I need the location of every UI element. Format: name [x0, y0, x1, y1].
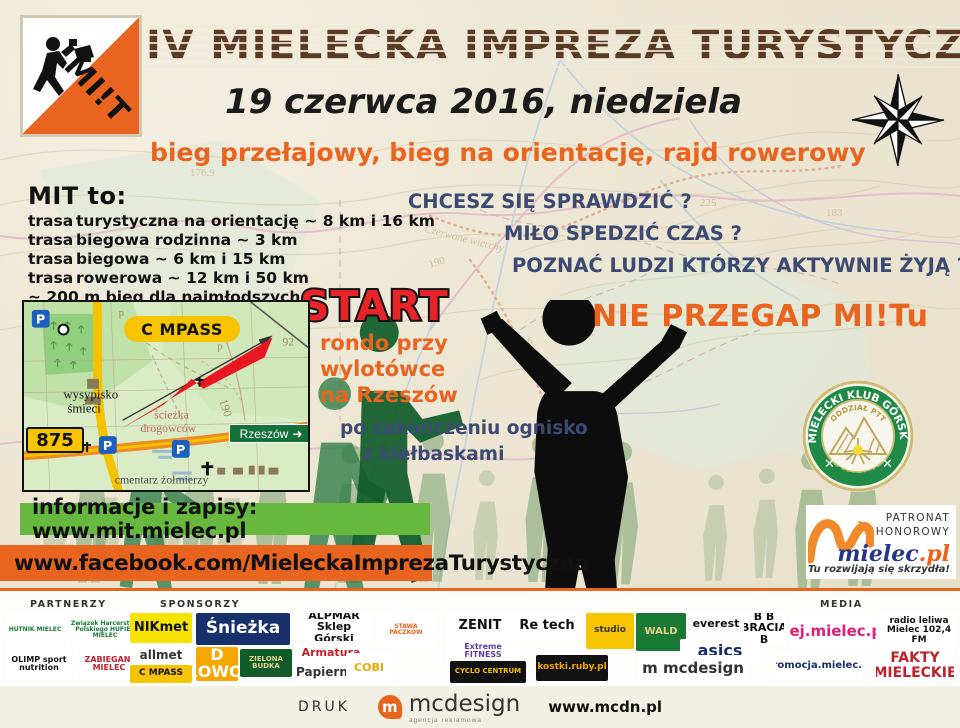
- svg-text:drogowców: drogowców: [140, 421, 196, 435]
- sponsor-logo-everest[interactable]: everest: [690, 613, 742, 635]
- svg-text:MI!T: MI!T: [57, 49, 137, 131]
- sponsor-logo-pzu-zielony[interactable]: HUTNIK MIELEC: [6, 613, 64, 647]
- sponsor-logo-allmet[interactable]: allmet: [130, 645, 192, 665]
- svg-text:p: p: [217, 340, 222, 352]
- svg-text:ścieżka: ścieżka: [154, 407, 190, 421]
- sponsor-logo-compass[interactable]: C MPASS: [130, 665, 192, 683]
- svg-text:✕: ✕: [824, 457, 835, 472]
- arrow-right-icon: ➜: [292, 427, 302, 441]
- route-row: trasabiegowa rodzinna ~ 3 km: [28, 231, 408, 250]
- sponsor-logo-radio-leliwa[interactable]: radio leliwa Mielec 102,4 FM: [882, 613, 956, 649]
- sponsor-logo-zenit[interactable]: ZENIT: [446, 613, 514, 639]
- sponsor-logo-alpmar[interactable]: ALPMAR Sklep Górski: [296, 613, 372, 641]
- title-text: IV MIELECKA IMPREZA TURYSTYCZNA: [146, 20, 960, 72]
- poster: 183 198.6 190 187.8 225 176.9 Czerwone w…: [0, 0, 960, 728]
- sponsor-logo-pp-studio[interactable]: studio: [586, 613, 634, 649]
- compass-logo-text: C MPASS: [141, 320, 223, 339]
- mcdn-url: www.mcdn.pl: [548, 698, 662, 716]
- svg-text:p: p: [119, 307, 124, 319]
- mcdesign-logo: m mcdesign agencja reklamowa: [378, 691, 520, 724]
- page-title: IV MIELECKA IMPREZA TURYSTYCZNA: [146, 20, 940, 72]
- start-line-3: na Rzeszów: [320, 382, 560, 408]
- route-row: trasabiegowa ~ 6 km i 15 km: [28, 250, 408, 269]
- svg-text:wysypisko: wysypisko: [63, 388, 118, 402]
- mielec-slogan: Tu rozwijają się skrzydła!: [808, 564, 950, 575]
- footer-category-media: MEDIA: [820, 599, 863, 610]
- mit-logo: MI!T: [20, 15, 142, 137]
- after-event-block: po zakończeniu ognisko z kiełbaskami: [340, 416, 620, 468]
- sponsor-logo-cyclo-centrum[interactable]: CYCLO CENTRUM: [450, 661, 526, 683]
- start-location-block: rondo przy wylotówce na Rzeszów: [320, 330, 560, 408]
- start-line-1: rondo przy: [320, 330, 560, 356]
- direction-sign-rzeszow: Rzeszów ➜: [229, 424, 310, 443]
- route-value: rowerowa ~ 12 km i 50 km: [76, 269, 309, 287]
- event-date: 19 czerwca 2016, niedziela: [225, 82, 785, 122]
- route-key: trasa: [28, 269, 76, 288]
- question-1: CHCESZ SIĘ SPRAWDZIĆ ?: [408, 186, 954, 218]
- event-tagline: bieg przełajowy, bieg na orientację, raj…: [150, 136, 870, 170]
- sponsor-logo-nikmet[interactable]: NIKmet: [130, 613, 192, 643]
- print-credit-bar: DRUK m mcdesign agencja reklamowa www.mc…: [0, 686, 960, 728]
- sponsor-logo-rectech[interactable]: Re tech: [514, 613, 580, 639]
- patronage-label: PATRONAT HONOROWY: [876, 511, 950, 539]
- website-text: informacje i zapisy: www.mit.mielec.pl: [32, 495, 430, 543]
- patronage-block: PATRONAT HONOROWY mielec.pl Tu rozwijają…: [806, 505, 956, 579]
- svg-text:P: P: [36, 313, 45, 328]
- route-key: trasa: [28, 212, 76, 231]
- route-value: biegowa ~ 6 km i 15 km: [76, 250, 285, 268]
- footer-category-sponsorzy: SPONSORZY: [160, 599, 240, 610]
- patronage-line-2: HONOROWY: [876, 525, 950, 539]
- mcdesign-subtitle: agencja reklamowa: [409, 717, 520, 724]
- mielecki-klub-gorski-badge: MIELECKI KLUB GÓRSKI CARPATIA ODDZIAŁ PT…: [800, 378, 916, 494]
- road-number: 875: [36, 430, 74, 451]
- sponsor-logo-extreme-fitness[interactable]: Extreme FITNESS: [446, 639, 520, 663]
- sponsor-logo-cobi[interactable]: COBI: [346, 653, 392, 683]
- sponsor-logo-hej-mielec[interactable]: hej.mielec.pl: [790, 615, 876, 649]
- sponsor-logo-zielona-budka[interactable]: ZIELONA BUDKA: [240, 649, 292, 677]
- sponsor-logo-kostki-ruby[interactable]: kostki.ruby.pl: [536, 655, 608, 681]
- question-3: POZNAĆ LUDZI KTÓRZY AKTYWNIE ŻYJĄ ?: [408, 250, 954, 282]
- mcdesign-bubble-icon: m: [378, 695, 402, 719]
- sponsor-logo-promocja-mielec[interactable]: promocja.mielec.pl: [776, 653, 862, 679]
- svg-text:✕: ✕: [882, 457, 893, 472]
- route-key: trasa: [28, 250, 76, 269]
- druk-label: DRUK: [298, 699, 350, 715]
- info-bar-website[interactable]: informacje i zapisy: www.mit.mielec.pl: [20, 503, 430, 535]
- start-heading: START: [300, 283, 500, 329]
- route-value: biegowa rodzinna ~ 3 km: [76, 231, 298, 249]
- sponsor-logo-olimp[interactable]: OLIMP sport nutrition: [6, 649, 72, 679]
- after-line-2: z kiełbaskami: [340, 442, 620, 468]
- compass-rose-icon: [846, 68, 950, 172]
- route-value: turystyczna na orientację ~ 8 km i 16 km: [76, 212, 435, 230]
- sponsor-logo-sniezka[interactable]: Śnieżka: [196, 613, 290, 645]
- patronage-line-1: PATRONAT: [876, 511, 950, 525]
- svg-text:cmentarz żołmierzy: cmentarz żołmierzy: [115, 472, 209, 486]
- road-number-shield: 875: [26, 427, 84, 453]
- svg-text:P: P: [103, 439, 112, 454]
- question-2: MIŁO SPEDZIĆ CZAS ?: [408, 218, 954, 250]
- sponsor-logo-dobrowolski[interactable]: D DOBROWOLSCY: [196, 647, 238, 681]
- start-line-2: wylotówce: [320, 356, 560, 382]
- sponsor-logo-wald[interactable]: WALD: [636, 613, 686, 651]
- facebook-text: www.facebook.com/MieleckaImprezaTurystyc…: [14, 551, 589, 576]
- info-bar-facebook[interactable]: www.facebook.com/MieleckaImprezaTurystyc…: [0, 545, 432, 581]
- mit-wordmark: MI!T: [45, 40, 141, 136]
- footer-category-partnerzy: PARTNERZY: [30, 599, 107, 610]
- svg-text:92: 92: [282, 334, 294, 348]
- route-row: trasaturystyczna na orientację ~ 8 km i …: [28, 212, 408, 231]
- sponsors-footer: PARTNERZY SPONSORZY MEDIA HUTNIK MIELECZ…: [0, 588, 960, 686]
- map-inset[interactable]: PPP wysypisko śmieci cmentarz żołmierzy …: [22, 300, 310, 492]
- svg-text:P: P: [176, 443, 185, 458]
- route-key: trasa: [28, 231, 76, 250]
- mit-to-heading: MIT to:: [28, 182, 408, 210]
- direction-sign-label: Rzeszów: [240, 427, 289, 441]
- compass-sponsor-logo: C MPASS: [124, 316, 240, 342]
- sponsor-logo-fakty-mieleckie[interactable]: FAKTY MIELECKIE: [876, 651, 954, 681]
- svg-text:śmieci: śmieci: [67, 401, 101, 415]
- mcdesign-name: mcdesign: [409, 691, 520, 717]
- questions-block: CHCESZ SIĘ SPRAWDZIĆ ? MIŁO SPEDZIĆ CZAS…: [408, 186, 954, 282]
- sponsor-logo-stawa-paczkow[interactable]: STAWA PACZKÓW: [376, 613, 436, 647]
- after-line-1: po zakończeniu ognisko: [340, 416, 620, 442]
- sponsor-logo-mcdesign-footer[interactable]: m mcdesign: [638, 655, 748, 683]
- call-to-action: NIE PRZEGAP MI!Tu: [592, 298, 952, 336]
